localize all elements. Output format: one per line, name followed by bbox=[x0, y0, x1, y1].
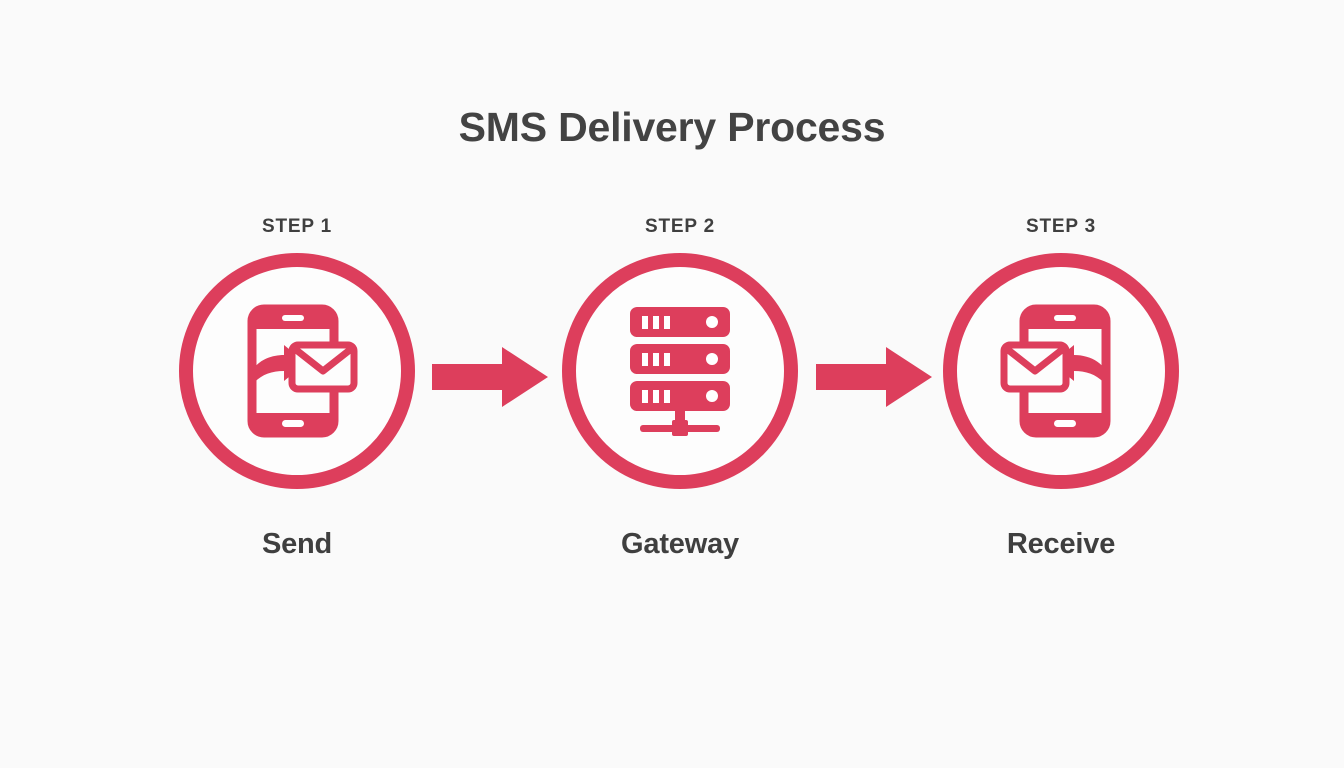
step-label-gateway: Gateway bbox=[530, 525, 830, 563]
phone-send-message-icon bbox=[179, 253, 415, 489]
step-kicker-2: STEP 2 bbox=[530, 214, 830, 240]
process-step-send[interactable]: STEP 1 bbox=[147, 214, 447, 563]
step-label-receive: Receive bbox=[911, 525, 1211, 563]
step-label-send: Send bbox=[147, 525, 447, 563]
process-step-receive[interactable]: STEP 3 bbox=[911, 214, 1211, 563]
step-circle-gateway[interactable] bbox=[562, 253, 798, 489]
phone-receive-message-icon bbox=[943, 253, 1179, 489]
arrow-right-icon bbox=[816, 345, 932, 409]
step-kicker-1: STEP 1 bbox=[147, 214, 447, 240]
step-circle-send[interactable] bbox=[179, 253, 415, 489]
step-kicker-3: STEP 3 bbox=[911, 214, 1211, 240]
sms-delivery-process-infographic: SMS Delivery Process STEP 1 bbox=[0, 0, 1344, 768]
process-steps-row: STEP 1 bbox=[0, 0, 1344, 768]
step-circle-receive[interactable] bbox=[943, 253, 1179, 489]
process-step-gateway[interactable]: STEP 2 bbox=[530, 214, 830, 563]
server-rack-icon bbox=[562, 253, 798, 489]
arrow-right-icon bbox=[432, 345, 548, 409]
